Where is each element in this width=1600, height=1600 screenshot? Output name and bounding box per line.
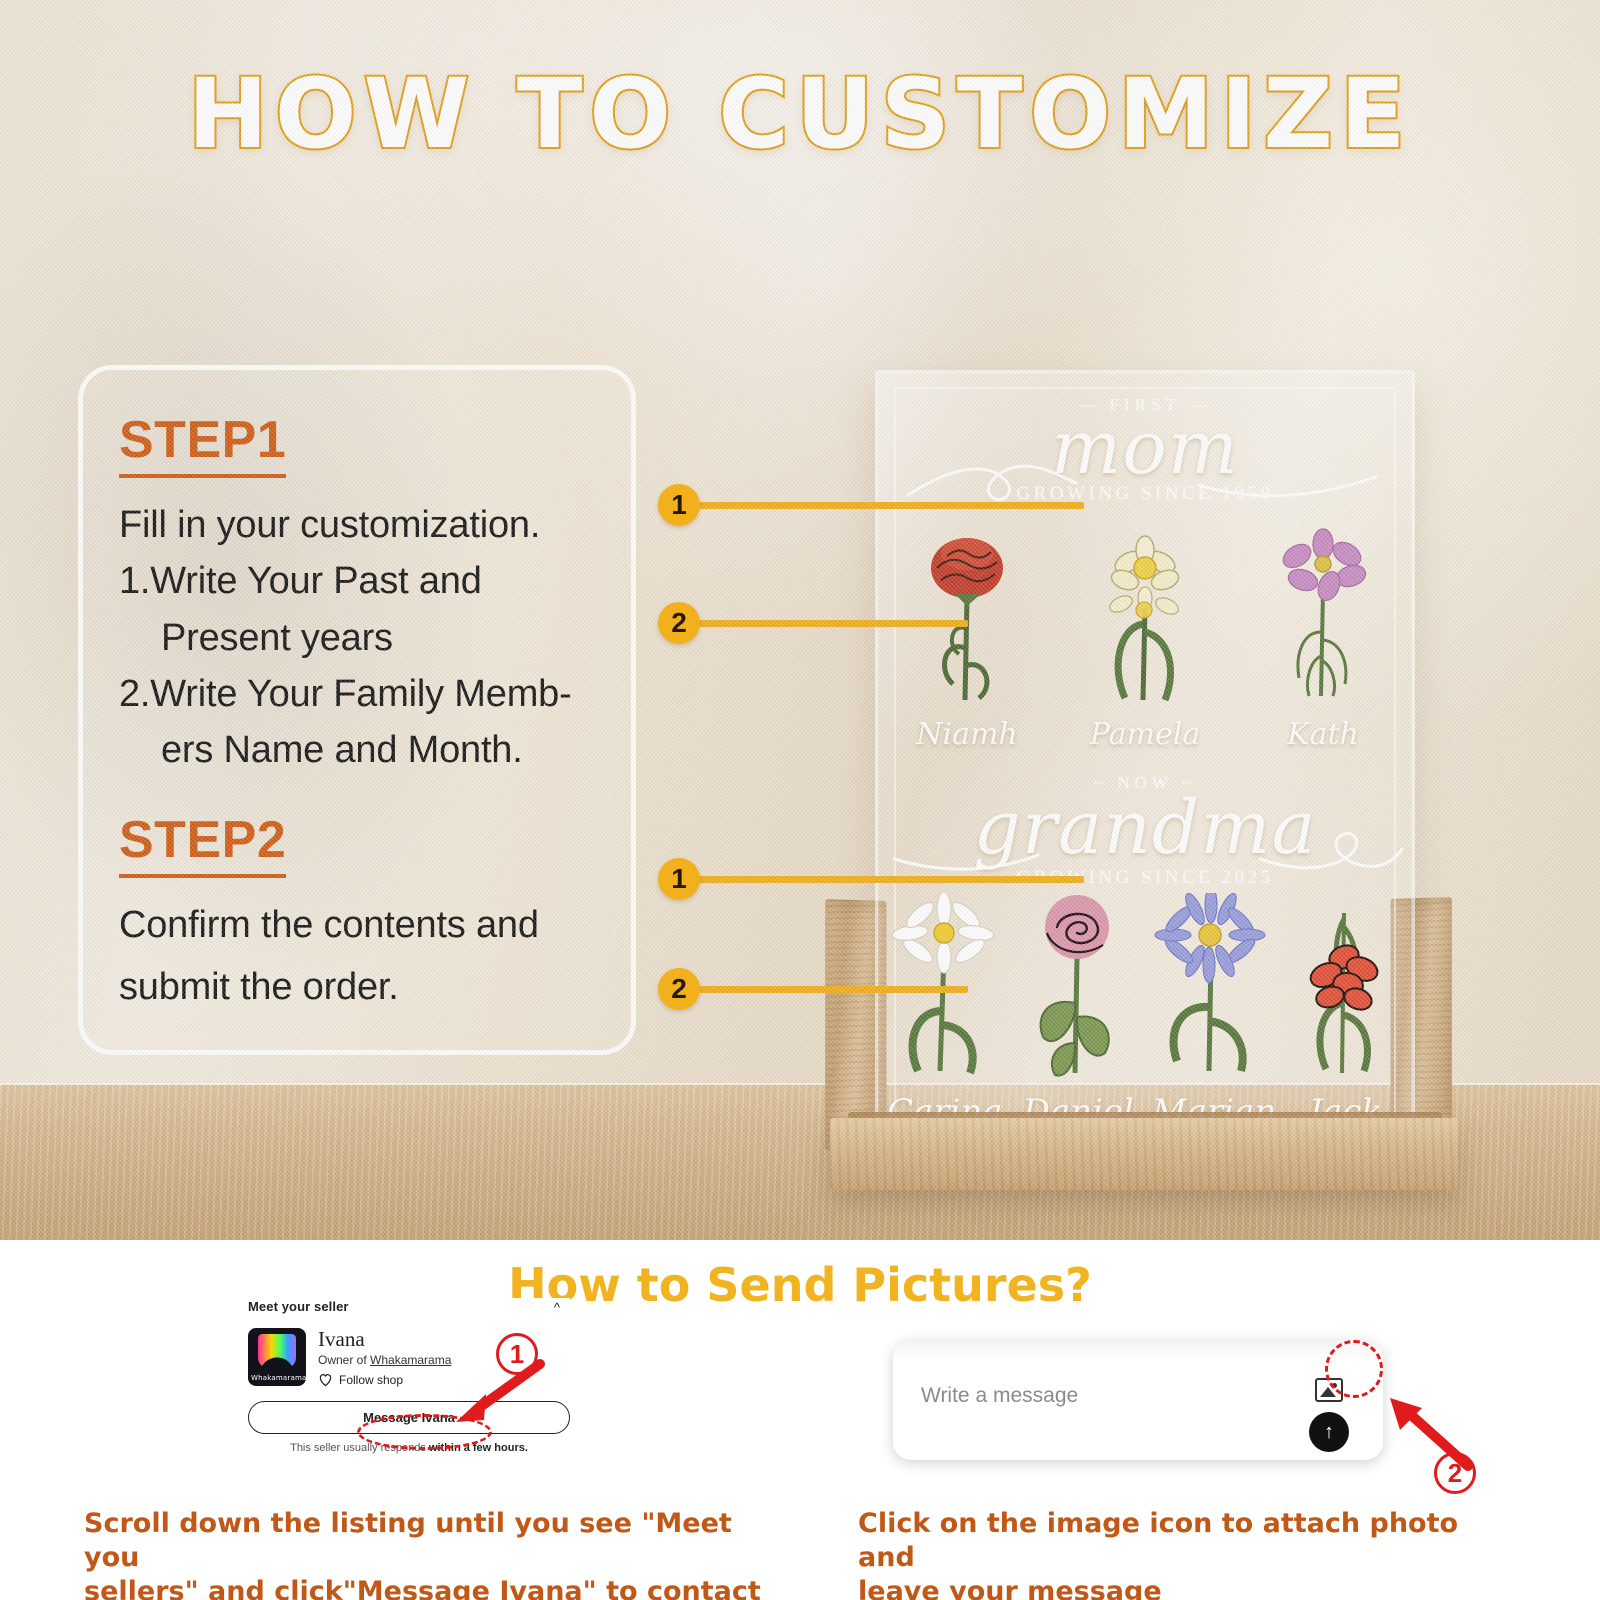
steps-card: STEP1 Fill in your customization. 1.Writ…	[78, 365, 636, 1055]
plaque-bottom-flower-row: Carina Daniel	[878, 893, 1412, 1132]
page-root: HOW TO CUSTOMIZE STEP1 Fill in your cust…	[0, 0, 1600, 1600]
aster-flower-icon	[1153, 893, 1271, 1083]
shop-logo-label: Whakamarama	[251, 1374, 306, 1382]
owner-prefix: Owner of	[318, 1353, 370, 1367]
step2-body: Confirm the contents and submit the orde…	[119, 902, 595, 1011]
callout-badge-4: 2	[658, 968, 700, 1010]
callout-2-top: 2	[658, 602, 968, 644]
callout-1-bottom: 1	[658, 858, 1084, 900]
send-pictures-title: How to Send Pictures?	[0, 1258, 1600, 1312]
step2-line-2: submit the order.	[119, 964, 595, 1010]
annotation-badge-1: 1	[496, 1333, 538, 1375]
step1-heading: STEP1	[119, 410, 286, 478]
step1-body: Fill in your customization. 1.Write Your…	[119, 502, 595, 774]
flower-cell-daniel: Daniel	[1018, 893, 1138, 1132]
chevron-up-icon[interactable]: ^	[554, 1300, 560, 1315]
left-caption-line-2: sellers" and click"Message Ivana" to con…	[84, 1575, 764, 1600]
callout-badge-2: 2	[658, 602, 700, 644]
right-caption-line-2: leave your message	[858, 1575, 1498, 1600]
step2-line-1: Confirm the contents and	[119, 902, 595, 948]
callout-badge-3: 1	[658, 858, 700, 900]
daffodil-flower-icon	[1085, 528, 1205, 708]
callout-line-2	[696, 620, 968, 627]
gladiolus-flower-icon	[1286, 893, 1404, 1083]
flower-name-1: Pamela	[1085, 717, 1205, 752]
rose-flower-icon	[1019, 893, 1137, 1083]
cosmos-flower-icon	[1263, 528, 1383, 708]
callout-badge-1: 1	[658, 484, 700, 526]
callout-line-1	[696, 502, 1084, 509]
step2-block: STEP2 Confirm the contents and submit th…	[119, 810, 595, 1011]
flower-name-2: Kath	[1263, 717, 1383, 752]
callout-line-4	[696, 986, 968, 993]
seller-name: Ivana	[318, 1328, 451, 1350]
flower-cell-carina: Carina	[885, 893, 1005, 1132]
step1-line-5: ers Name and Month.	[119, 727, 595, 773]
right-caption: Click on the image icon to attach photo …	[858, 1507, 1498, 1600]
seller-info: Ivana Owner of Whakamarama Follow shop	[318, 1328, 451, 1387]
step1-line-2: 1.Write Your Past and	[119, 558, 595, 604]
stand-base	[830, 1118, 1458, 1190]
highlight-image-icon-circle	[1325, 1340, 1383, 1398]
hero-scene: HOW TO CUSTOMIZE STEP1 Fill in your cust…	[0, 0, 1600, 1240]
shop-logo-icon	[258, 1334, 296, 1368]
composer-header	[893, 1340, 1383, 1362]
heart-icon	[318, 1373, 333, 1387]
follow-shop-label: Follow shop	[339, 1373, 403, 1387]
flower-name-0: Niamh	[907, 717, 1027, 752]
callout-1-top: 1	[658, 484, 1084, 526]
right-caption-line-1: Click on the image icon to attach photo …	[858, 1507, 1498, 1575]
step2-heading: STEP2	[119, 810, 286, 878]
flower-cell-jack: Jack	[1285, 893, 1405, 1132]
left-caption: Scroll down the listing until you see "M…	[84, 1507, 764, 1600]
seller-owner: Owner of Whakamarama	[318, 1353, 451, 1367]
left-caption-line-1: Scroll down the listing until you see "M…	[84, 1507, 764, 1575]
step1-line-1: Fill in your customization.	[119, 502, 595, 548]
step1-line-4: 2.Write Your Family Memb-	[119, 671, 595, 717]
meet-your-seller-label: Meet your seller	[248, 1299, 349, 1314]
send-message-button[interactable]: ↑	[1309, 1412, 1349, 1452]
message-composer: Write a message ↑	[893, 1340, 1383, 1460]
follow-shop-button[interactable]: Follow shop	[318, 1373, 451, 1387]
shop-avatar: Whakamarama	[248, 1328, 306, 1386]
callout-2-bottom: 2	[658, 968, 968, 1010]
message-input[interactable]: Write a message	[921, 1384, 1078, 1408]
flower-cell-kath: Kath	[1263, 528, 1383, 752]
step1-line-3: Present years	[119, 615, 595, 661]
annotation-badge-2: 2	[1434, 1452, 1476, 1494]
callout-line-3	[696, 876, 1084, 883]
flower-cell-marian: Marian	[1152, 893, 1272, 1132]
flower-cell-pamela: Pamela	[1085, 528, 1205, 752]
page-title: HOW TO CUSTOMIZE	[0, 58, 1600, 170]
